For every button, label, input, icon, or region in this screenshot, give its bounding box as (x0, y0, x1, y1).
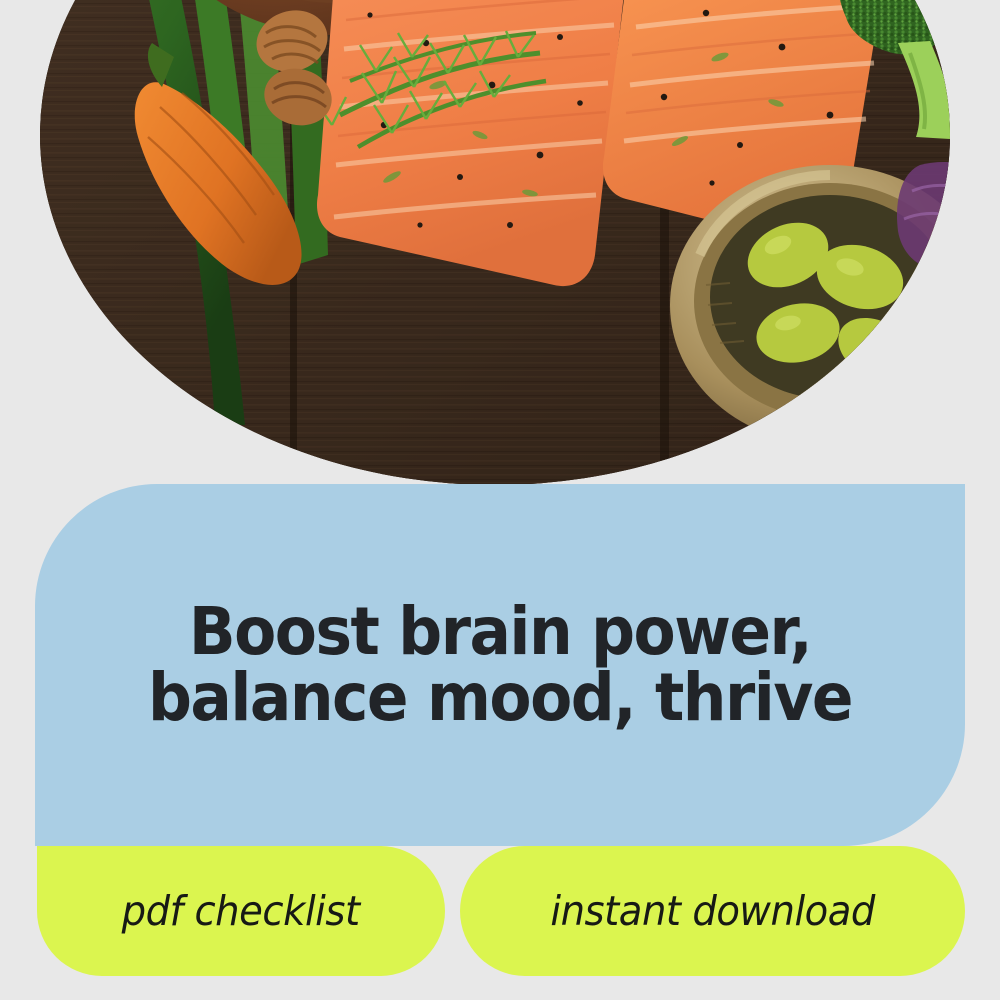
tag-row: pdf checklist instant download (0, 846, 1000, 1000)
tag-label: instant download (550, 887, 875, 935)
poster-canvas: Boost brain power, balance mood, thrive … (0, 0, 1000, 1000)
omega-3-brain-foods-photo (40, 0, 950, 485)
page-title: Boost brain power, balance mood, thrive (72, 599, 928, 731)
tag-label: pdf checklist (122, 887, 360, 935)
tag-pill-instant-download[interactable]: instant download (460, 846, 965, 976)
hero-image-circle (40, 0, 950, 485)
headline-card: Boost brain power, balance mood, thrive (35, 484, 965, 846)
tag-pill-pdf-checklist[interactable]: pdf checklist (37, 846, 445, 976)
